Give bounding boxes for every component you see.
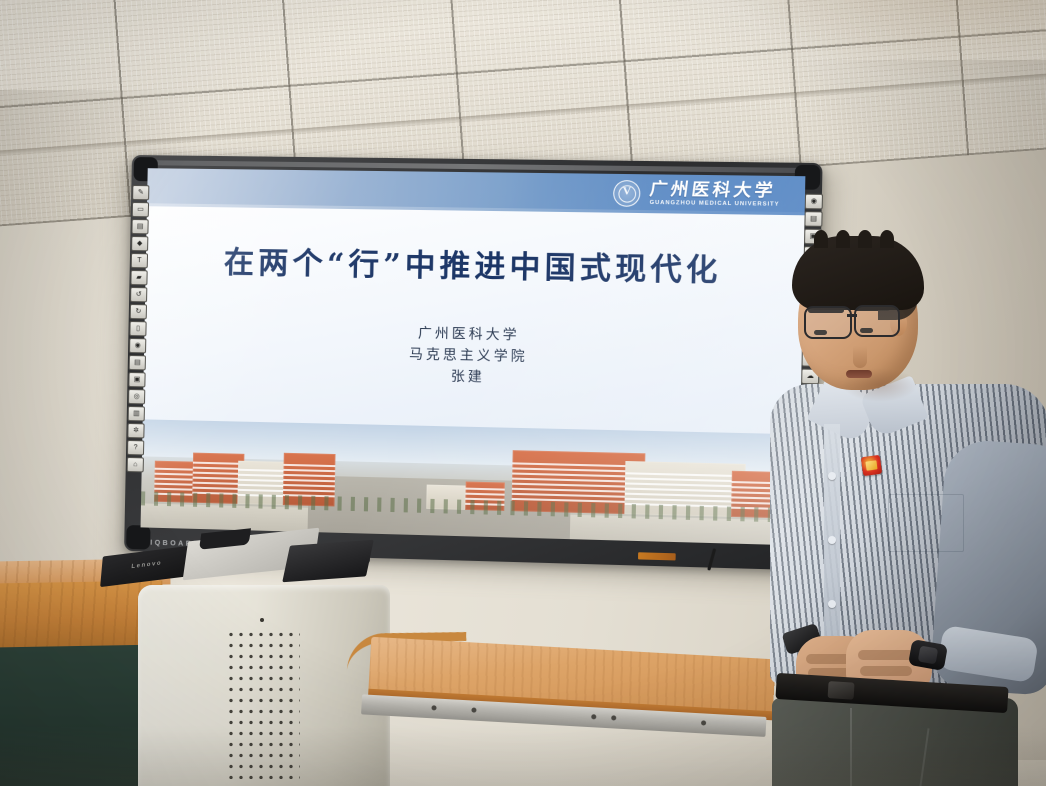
university-branding: 广州医科大学 GUANGZHOU MEDICAL UNIVERSITY (613, 180, 780, 209)
hair-spike (880, 230, 894, 248)
eyeglasses-bridge (847, 314, 857, 317)
eyeglasses-left-lens (804, 306, 852, 339)
menu-icon[interactable]: ▤ (804, 211, 822, 227)
board-screen[interactable]: 广州医科大学 GUANGZHOU MEDICAL UNIVERSITY 在两个“… (141, 168, 806, 545)
board-sticker (638, 552, 676, 560)
campus-panorama-photo (141, 419, 801, 545)
laptop-brand-label: Lenovo (131, 560, 162, 570)
slide-title: 在两个“行”中推进中国式现代化 (145, 236, 803, 291)
settings-icon[interactable]: ✲ (127, 423, 144, 438)
classroom-presentation-photo: 广州医科大学 GUANGZHOU MEDICAL UNIVERSITY 在两个“… (0, 0, 1046, 786)
shape-icon[interactable]: ◆ (131, 236, 148, 251)
shirt-placket (824, 424, 840, 668)
home-icon[interactable]: ⌂ (127, 457, 144, 472)
mouth (846, 370, 872, 378)
undo-icon[interactable]: ↺ (130, 287, 147, 302)
help-icon[interactable]: ? (127, 440, 144, 455)
board-corner (126, 525, 150, 550)
presenter (762, 236, 1046, 786)
belt-buckle (828, 681, 855, 700)
spotlight-icon[interactable]: ◎ (128, 389, 145, 404)
shirt-button (828, 600, 836, 608)
eyeglasses-right-lens (854, 305, 900, 337)
laptop-rear-panel (282, 540, 374, 582)
interactive-whiteboard[interactable]: 广州医科大学 GUANGZHOU MEDICAL UNIVERSITY 在两个“… (124, 155, 823, 575)
shirt-pocket (888, 494, 964, 552)
slide-subtitle-block: 广州医科大学 马克思主义学院 张建 (143, 318, 802, 395)
presentation-slide: 广州医科大学 GUANGZHOU MEDICAL UNIVERSITY 在两个“… (141, 168, 806, 545)
camera-icon[interactable]: ◉ (129, 338, 146, 353)
hair (792, 236, 924, 310)
party-emblem-pin (861, 455, 882, 476)
university-name-en: GUANGZHOU MEDICAL UNIVERSITY (649, 201, 779, 208)
page-icon[interactable]: ▯ (129, 321, 146, 336)
finger (860, 666, 912, 676)
text-icon[interactable]: T (131, 253, 148, 268)
nose (853, 346, 867, 368)
board-cable (707, 548, 716, 571)
shirt-button (828, 472, 836, 480)
select-icon[interactable]: ▤ (131, 219, 148, 234)
university-name-cn: 广州医科大学 (649, 181, 777, 200)
pen-icon[interactable]: ✎ (132, 185, 149, 200)
rail-screw (701, 720, 706, 725)
watch-face (918, 646, 939, 665)
rail-screw (431, 705, 436, 710)
board-frame: 广州医科大学 GUANGZHOU MEDICAL UNIVERSITY 在两个“… (124, 155, 823, 571)
keyboard-icon[interactable]: ▤ (129, 355, 146, 370)
rail-screw (591, 714, 596, 719)
hair-spike (814, 230, 828, 248)
save-icon[interactable]: ▣ (128, 372, 145, 387)
eraser-icon[interactable]: ▭ (132, 202, 149, 217)
hair-spike (858, 230, 872, 248)
finger (858, 650, 914, 660)
highlighter-icon[interactable]: ▰ (130, 270, 147, 285)
university-seal-icon (613, 180, 641, 207)
power-icon[interactable]: ◉ (805, 194, 823, 210)
lectern-vent-hole (260, 618, 264, 622)
slide-header-band: 广州医科大学 GUANGZHOU MEDICAL UNIVERSITY (147, 168, 805, 215)
university-names: 广州医科大学 GUANGZHOU MEDICAL UNIVERSITY (649, 181, 779, 208)
hair-spike (836, 230, 850, 248)
redo-icon[interactable]: ↻ (130, 304, 147, 319)
shirt-button (828, 536, 836, 544)
rail-screw (471, 707, 476, 712)
curtain-icon[interactable]: ▥ (128, 406, 145, 421)
floor-shadow (0, 726, 1046, 786)
board-toolbar-left[interactable]: ✎ ▭ ▤ ◆ T ▰ ↺ ↻ ▯ ◉ ▤ ▣ ◎ ▥ ✲ ? ⌂ (127, 185, 148, 472)
rail-screw (611, 715, 616, 720)
